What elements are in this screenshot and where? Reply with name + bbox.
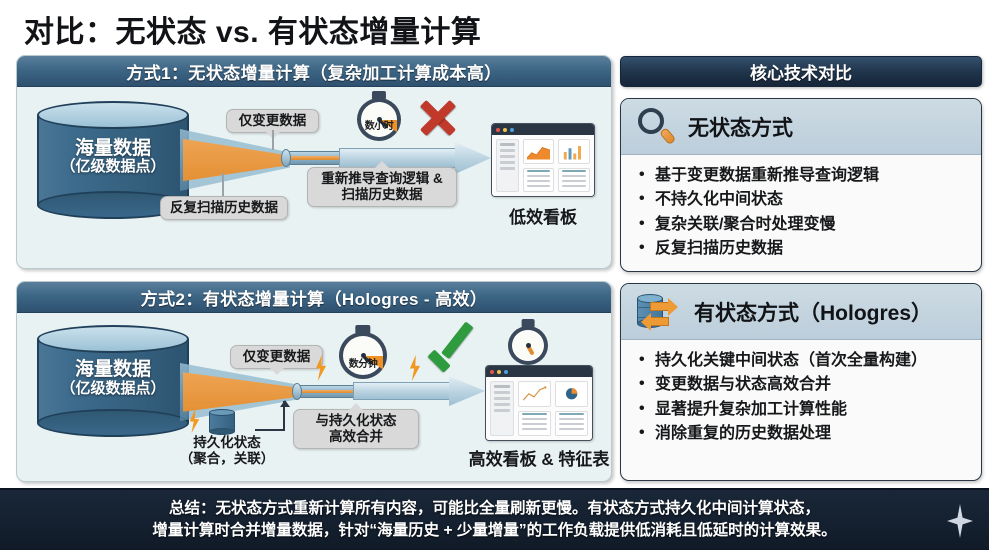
dashboard-mock-fast	[485, 365, 593, 441]
slide-root: 对比：无状态 vs. 有状态增量计算 方式1：无状态增量计算（复杂加工计算成本高…	[0, 0, 989, 550]
stopwatch-label: 数小时	[361, 117, 397, 132]
panel2-body: 海量数据 （亿级数据点） 仅变更数据	[17, 313, 611, 481]
cylinder-label: 海量数据 （亿级数据点）	[37, 359, 189, 397]
merge-hook-arrow	[255, 401, 285, 431]
dashboard-content	[492, 135, 594, 196]
cylinder-top	[37, 101, 189, 129]
arrow-shaft	[339, 148, 457, 167]
list-item: 消除重复的历史数据处理	[637, 422, 971, 446]
pipe-2	[295, 385, 359, 398]
database-sync-icon	[637, 292, 681, 332]
dashboard-mock-slow	[491, 123, 595, 197]
panel-stateful: 方式2：有状态增量计算（Hologres - 高效） 海量数据 （亿级数据点）	[16, 281, 612, 482]
card-stateful-title: 有状态方式（Hologres）	[694, 297, 932, 327]
dashboard-caption-slow: 低效看板	[491, 203, 595, 228]
stopwatch-hours: 数小时	[357, 91, 401, 141]
process-arrow-2	[353, 376, 485, 406]
dashboard-bar-chart	[558, 139, 590, 164]
dashboard-pie-chart	[555, 381, 588, 407]
stopwatch-fast	[508, 319, 548, 365]
persisted-state-cylinder	[209, 409, 235, 435]
leader-line-2	[222, 173, 224, 197]
magnifier-handle	[659, 127, 676, 145]
db-arrow-right	[650, 302, 670, 311]
list-item: 显著提升复杂加工计算性能	[637, 398, 971, 422]
dashboard-table-1	[523, 168, 555, 193]
red-x-icon	[417, 97, 459, 139]
dashboard-sidebar	[490, 381, 514, 436]
cylinder-label-line1: 海量数据	[37, 138, 189, 159]
list-item: 持久化关键中间状态（首次全量构建）	[637, 349, 971, 373]
leader-line-1	[272, 130, 274, 150]
dashboard-line-chart	[518, 381, 551, 407]
cylinder-top	[37, 325, 189, 353]
card-stateless: 无状态方式 基于变更数据重新推导查询逻辑 不持久化中间状态 复杂关联/聚合时处理…	[620, 98, 982, 272]
dashboard-table-4	[555, 411, 588, 437]
dashboard-content	[486, 377, 592, 440]
panel1-header: 方式1：无状态增量计算（复杂加工计算成本高）	[17, 56, 611, 87]
minicyl-bottom	[209, 428, 235, 435]
panel-stateless: 方式1：无状态增量计算（复杂加工计算成本高） 海量数据 （亿级数据点）	[16, 55, 612, 269]
cylinder-label-line2: （亿级数据点）	[37, 380, 189, 397]
dashboard-titlebar	[486, 366, 592, 377]
list-item: 不持久化中间状态	[637, 188, 971, 212]
pipe-1	[285, 151, 345, 165]
summary-text: 总结：无状态方式重新计算所有内容，可能比全量刷新更慢。有状态方式持久化中间计算状…	[152, 498, 836, 541]
card-stateless-header: 无状态方式	[621, 99, 981, 155]
stopwatch-body: 数分钟	[339, 332, 387, 379]
stopwatch-minutes: 数分钟	[339, 325, 387, 379]
cylinder-label-line2: （亿级数据点）	[37, 159, 189, 176]
pipe-cap-2	[292, 383, 302, 400]
dashboard-caption-fast: 高效看板 & 特征表	[451, 445, 612, 470]
panel1-body: 海量数据 （亿级数据点） 仅变更数据 反复扫描历史数据 重新推导查询逻辑 & 扫…	[17, 87, 611, 268]
dashboard-grid	[523, 139, 590, 192]
dashboard-table-2	[558, 168, 590, 193]
stopwatch-body	[508, 326, 548, 365]
callout-rescan-history-1: 反复扫描历史数据	[160, 196, 288, 220]
dashboard-grid	[518, 381, 588, 436]
hook-horizontal	[255, 429, 285, 431]
list-item: 复杂关联/聚合时处理变慢	[637, 213, 971, 237]
pipe-cap-1	[281, 149, 291, 167]
cylinder-label: 海量数据 （亿级数据点）	[37, 138, 189, 176]
magnifier-icon	[637, 108, 675, 146]
arrow-head	[449, 376, 485, 406]
arrow-shaft	[353, 382, 451, 400]
dashboard-area-chart	[523, 139, 555, 164]
dashboard-titlebar	[492, 124, 594, 135]
card-stateful: 有状态方式（Hologres） 持久化关键中间状态（首次全量构建） 变更数据与状…	[620, 283, 982, 481]
summary-bar: 总结：无状态方式重新计算所有内容，可能比全量刷新更慢。有状态方式持久化中间计算状…	[0, 488, 989, 550]
panel2-header: 方式2：有状态增量计算（Hologres - 高效）	[17, 282, 611, 313]
card-stateful-header: 有状态方式（Hologres）	[621, 284, 981, 340]
callout-merge-state: 与持久化状态 高效合并	[293, 409, 419, 449]
pipe-core	[296, 390, 358, 394]
list-item: 变更数据与状态高效合并	[637, 373, 971, 397]
card-stateless-bullets: 基于变更数据重新推导查询逻辑 不持久化中间状态 复杂关联/聚合时处理变慢 反复扫…	[621, 155, 981, 261]
right-panel-header: 核心技术对比	[620, 56, 982, 87]
sparkle-icon	[947, 504, 973, 538]
card-stateful-bullets: 持久化关键中间状态（首次全量构建） 变更数据与状态高效合并 显著提升复杂加工计算…	[621, 340, 981, 446]
card-stateless-title: 无状态方式	[688, 112, 793, 142]
stopwatch-pivot	[526, 343, 531, 348]
dashboard-sidebar	[496, 139, 519, 192]
list-item: 基于变更数据重新推导查询逻辑	[637, 164, 971, 188]
page-title: 对比：无状态 vs. 有状态增量计算	[24, 7, 481, 51]
dashboard-table-3	[518, 411, 551, 437]
stopwatch-label: 数分钟	[343, 355, 383, 370]
arrow-head	[455, 142, 491, 174]
cylinder-label-line1: 海量数据	[37, 359, 189, 380]
minicyl-top	[209, 409, 235, 416]
persisted-state-label: 持久化状态 （聚合，关联）	[167, 435, 287, 466]
callout-change-data-2: 仅变更数据	[230, 345, 323, 369]
big-data-cylinder-2: 海量数据 （亿级数据点）	[37, 325, 189, 437]
magnifier-ring	[638, 108, 664, 134]
hook-arrowhead	[280, 400, 290, 407]
green-check-icon	[429, 327, 481, 373]
list-item: 反复扫描历史数据	[637, 237, 971, 261]
db-arrow-left	[649, 317, 669, 326]
stopwatch-body: 数小时	[357, 98, 401, 141]
cylinder-bottom	[37, 409, 189, 437]
pipe-core	[286, 156, 344, 160]
callout-requery-logic-1: 重新推导查询逻辑 & 扫描历史数据	[307, 167, 457, 207]
